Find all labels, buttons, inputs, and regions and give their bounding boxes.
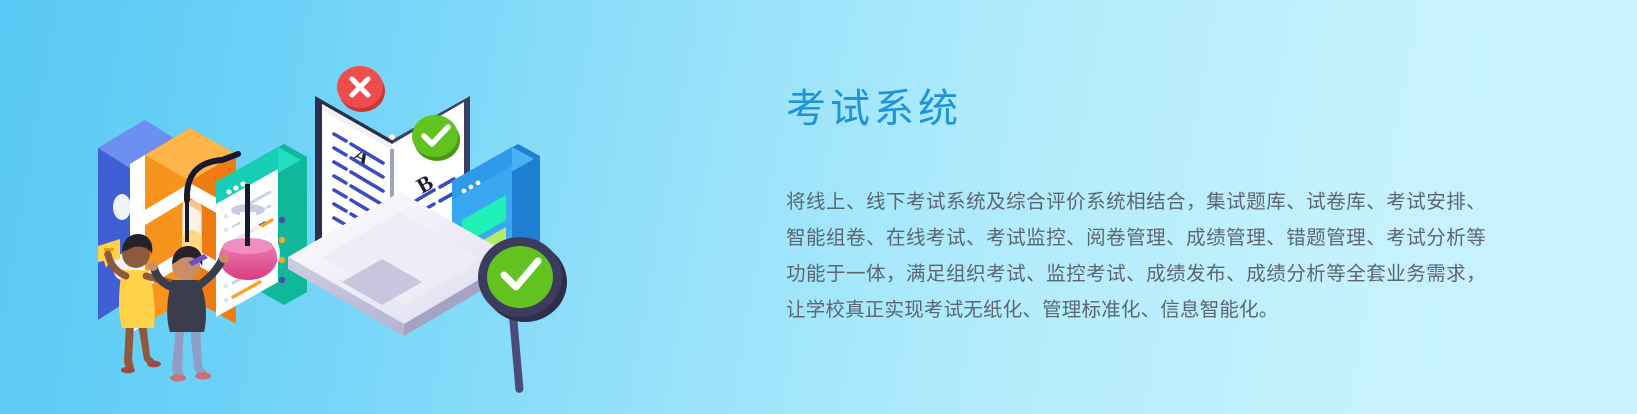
banner-description: 将线上、线下考试系统及综合评价系统相结合，集试题库、试卷库、考试安排、智能组卷、… <box>786 134 1486 328</box>
magnifying-glass-with-check <box>478 237 567 393</box>
page-title: 考试系统 <box>786 84 1506 134</box>
isometric-exam-system-illustration: A B <box>70 24 610 396</box>
banner-copy: 考试系统 将线上、线下考试系统及综合评价系统相结合，集试题库、试卷库、考试安排、… <box>786 84 1506 328</box>
exam-system-banner: A B <box>0 0 1637 414</box>
red-cross-badge <box>337 66 385 112</box>
